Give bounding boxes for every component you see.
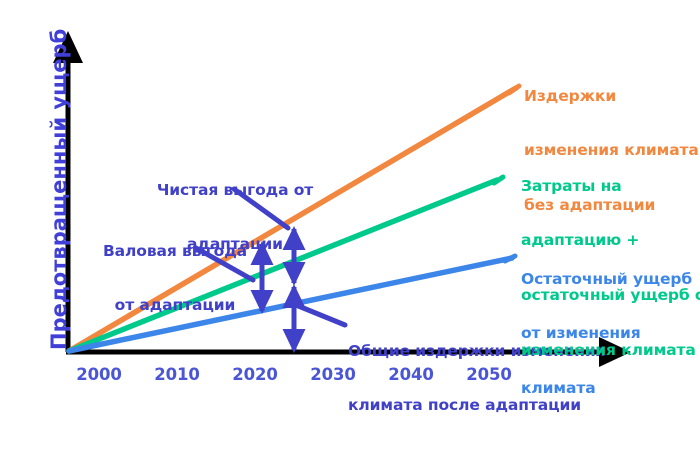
- x-tick-label-2000: 2000: [61, 365, 137, 384]
- annotation-net-benefit-line1: Чистая выгода от: [140, 181, 330, 199]
- annotation-gross-benefit-line2: от адаптации: [89, 296, 261, 314]
- legend-connector-orange: [509, 86, 519, 93]
- legend-label-residual-damage: Остаточный ущерб от изменения климата: [521, 233, 700, 434]
- legend-connector-group: [494, 86, 519, 261]
- legend-label-green-line1: Затраты на: [521, 177, 700, 195]
- leader-line-total-after-adaptation: [291, 303, 345, 325]
- legend-label-blue-line2: от изменения: [521, 324, 700, 342]
- legend-label-orange-line1: Издержки: [524, 87, 699, 105]
- annotation-gross-benefit: Валовая выгода от адаптации: [89, 205, 261, 351]
- chart-canvas: Предотвращенный ущерб 2000 2010 2020 203…: [0, 0, 700, 400]
- annotation-gross-benefit-line1: Валовая выгода: [89, 242, 261, 260]
- x-tick-label-2010: 2010: [139, 365, 215, 384]
- legend-label-blue-line3: климата: [521, 379, 700, 397]
- y-axis-title: Предотвращенный ущерб: [47, 20, 77, 350]
- legend-label-blue-line1: Остаточный ущерб: [521, 270, 700, 288]
- x-tick-label-2020: 2020: [217, 365, 293, 384]
